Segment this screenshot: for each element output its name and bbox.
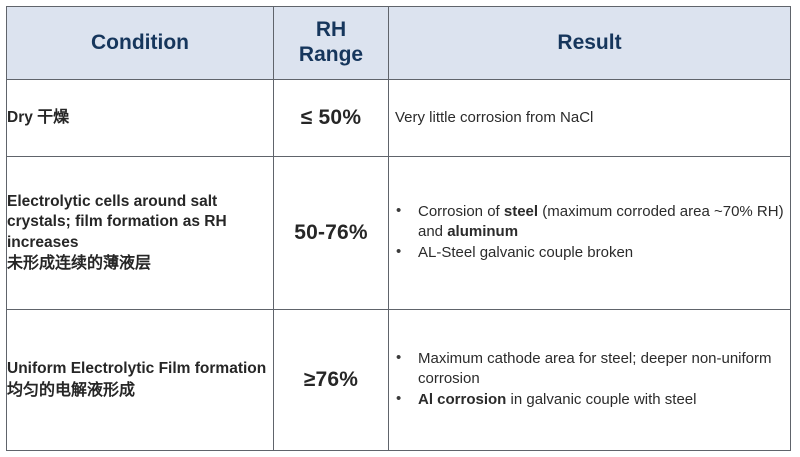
condition-text-en: Electrolytic cells around salt crystals;… [7,193,227,250]
condition-text-zh: 未形成连续的薄液层 [7,253,151,272]
bullet-text: Maximum cathode area for steel; deeper n… [418,350,772,387]
bullet-text: in galvanic couple with steel [506,391,696,408]
emphasis-text: steel [504,203,538,220]
table-body: Dry 干燥 ≤ 50% Very little corrosion from … [7,80,791,451]
column-header-rh-range-label: RH Range [274,18,388,68]
table-row: Electrolytic cells around salt crystals;… [7,157,791,310]
column-header-result: Result [389,7,791,80]
cell-rh-range: 50-76% [274,157,389,310]
result-bullet-item: Corrosion of steel (maximum corroded are… [389,202,790,242]
emphasis-text: aluminum [447,223,518,240]
table-row: Dry 干燥 ≤ 50% Very little corrosion from … [7,80,791,157]
table-header: Condition RH Range Result [7,7,791,80]
column-header-result-label: Result [389,31,790,56]
cell-condition: Electrolytic cells around salt crystals;… [7,157,274,310]
condition-text-zh: 干燥 [37,107,69,126]
result-bullet-list: Corrosion of steel (maximum corroded are… [389,202,790,262]
condition-text-zh: 均匀的电解液形成 [7,380,135,399]
condition-text-en: Dry [7,109,37,126]
header-row: Condition RH Range Result [7,7,791,80]
result-plain-text: Very little corrosion from NaCl [389,108,790,128]
cell-rh-range: ≥76% [274,310,389,451]
table-figure: Condition RH Range Result Dry 干燥 ≤ 50% V… [0,0,800,457]
cell-result: Very little corrosion from NaCl [389,80,791,157]
cell-condition: Uniform Electrolytic Film formation 均匀的电… [7,310,274,451]
cell-rh-range: ≤ 50% [274,80,389,157]
bullet-text: AL-Steel galvanic couple broken [418,244,633,261]
rh-condition-result-table: Condition RH Range Result Dry 干燥 ≤ 50% V… [6,6,791,451]
result-bullet-item: Al corrosion in galvanic couple with ste… [389,390,790,410]
cell-condition: Dry 干燥 [7,80,274,157]
result-bullet-list: Maximum cathode area for steel; deeper n… [389,349,790,409]
bullet-text: Corrosion of [418,203,504,220]
condition-text-en: Uniform Electrolytic Film formation [7,360,266,377]
cell-result: Corrosion of steel (maximum corroded are… [389,157,791,310]
table-row: Uniform Electrolytic Film formation 均匀的电… [7,310,791,451]
result-bullet-item: AL-Steel galvanic couple broken [389,243,790,263]
column-header-rh-range: RH Range [274,7,389,80]
column-header-condition-label: Condition [7,31,273,56]
emphasis-text: Al corrosion [418,391,506,408]
cell-result: Maximum cathode area for steel; deeper n… [389,310,791,451]
column-header-condition: Condition [7,7,274,80]
result-bullet-item: Maximum cathode area for steel; deeper n… [389,349,790,389]
